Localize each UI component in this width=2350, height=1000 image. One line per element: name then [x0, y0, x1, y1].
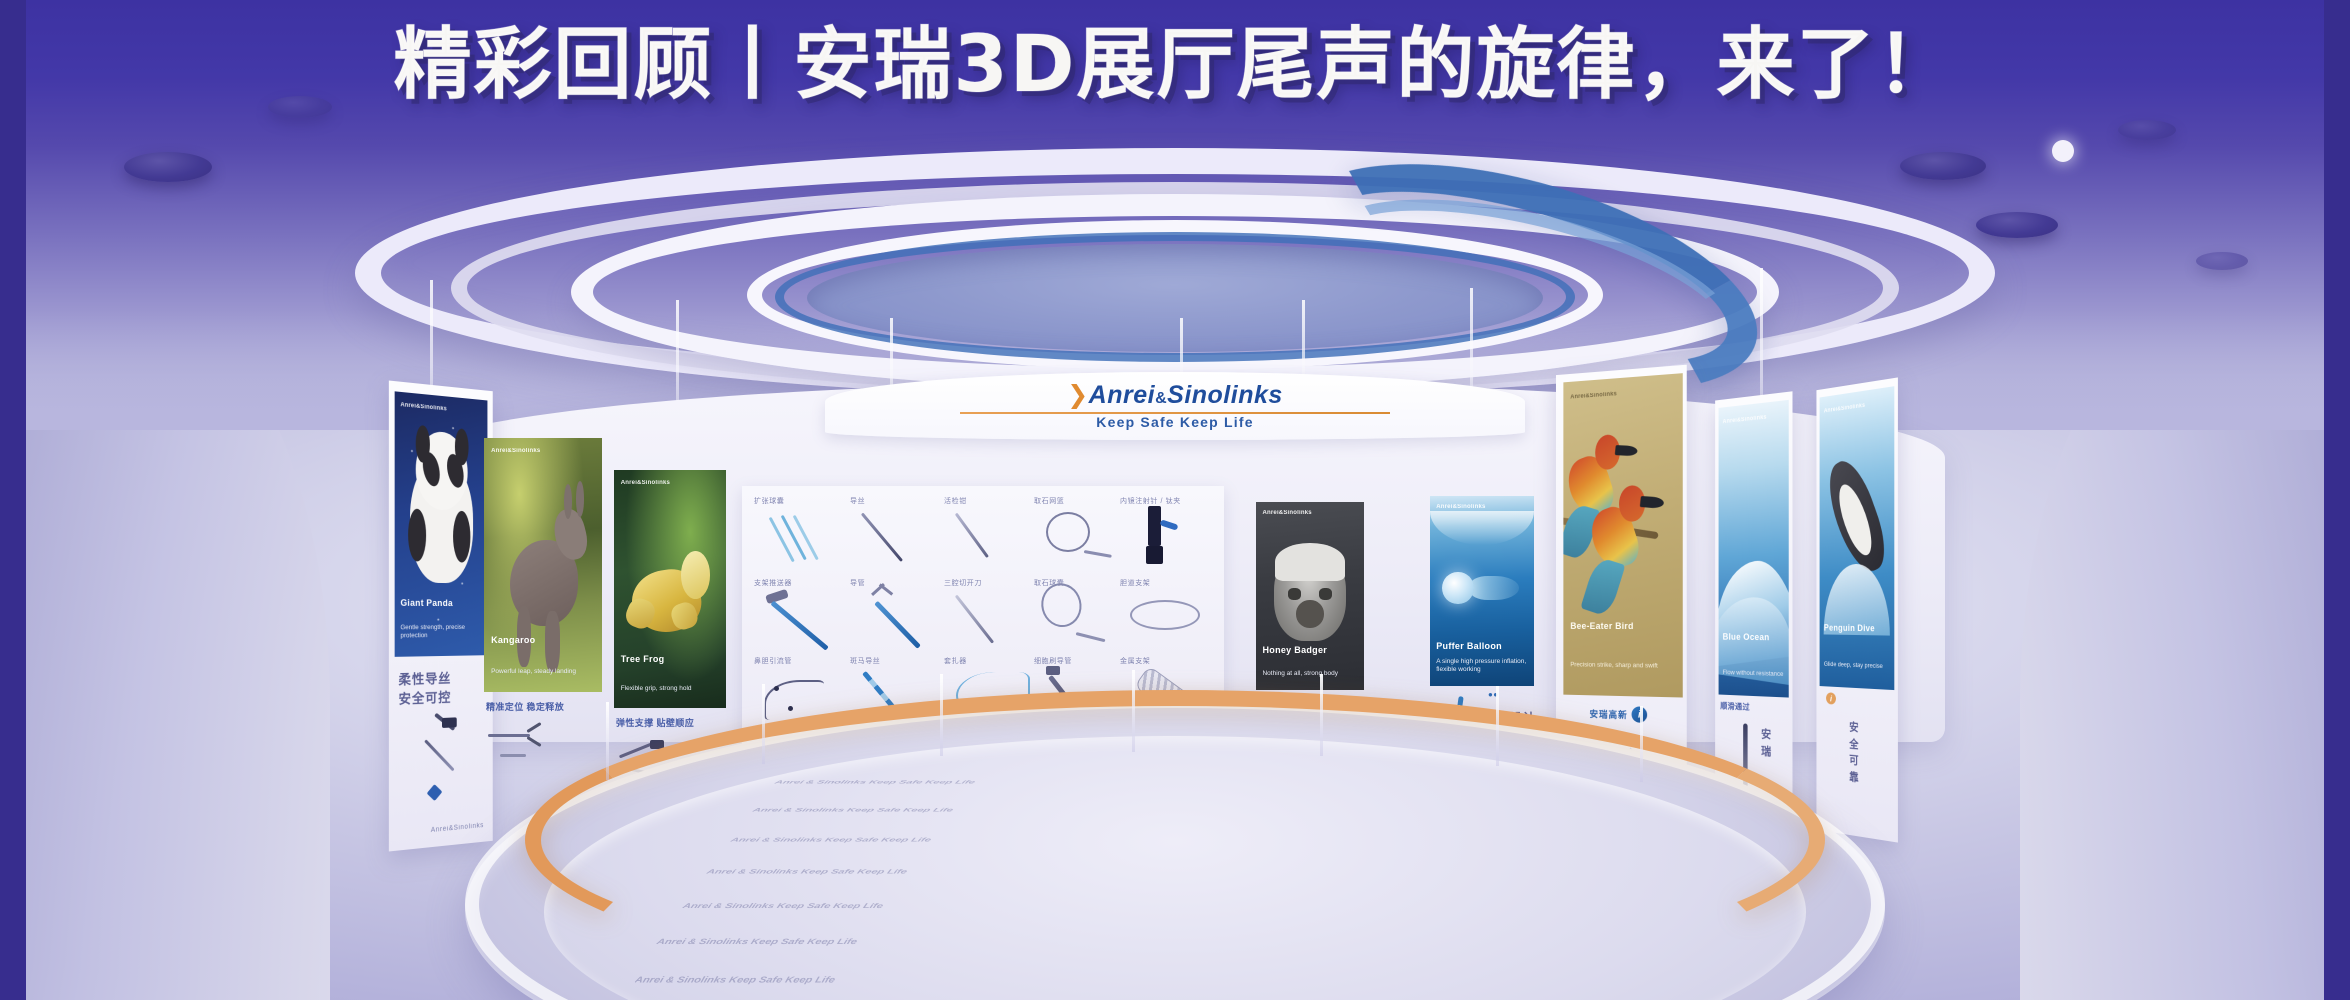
product-label: 金属支架 [1120, 656, 1150, 666]
brand-swoosh-icon: ❯ [1067, 381, 1088, 409]
poster-title: Honey Badger [1262, 645, 1357, 656]
ceiling-lamp-icon [2118, 120, 2176, 140]
poster-caption: 顺滑通过 [1720, 700, 1750, 712]
poster-title: Kangaroo [491, 635, 595, 646]
kiosk-footnote: Anrei&Sinolinks [431, 822, 484, 834]
product-label: 套扎器 [944, 656, 967, 666]
poster-title: Giant Panda [400, 598, 482, 610]
product-label: 三腔切开刀 [944, 578, 982, 588]
floor-watermark-row: Anrei & Sinolinks Keep Safe Keep Life [635, 975, 836, 984]
seal-label: 安瑞高新 [1590, 707, 1628, 721]
rail-post [762, 684, 765, 764]
bird-beak-icon [1640, 496, 1664, 508]
rail-post [1640, 706, 1643, 782]
product-graphic-clip-device [1132, 504, 1204, 566]
product-graphic-balloon-triple [764, 508, 840, 566]
badger-eye-left-icon [1288, 588, 1301, 599]
product-graphic-forceps [952, 508, 1028, 566]
brand-ampersand: & [1155, 390, 1167, 407]
product-label: 扩张球囊 [754, 496, 784, 506]
poster-subtitle: Powerful leap, steady landing [491, 668, 595, 676]
kiosk-caption-cn: 安瑞 [1761, 726, 1772, 760]
exhibition-hall-banner: ❯Anrei&Sinolinks Keep Safe Keep Life Anr… [0, 0, 2350, 1000]
poster-mount-kangaroo[interactable]: Anrei&Sinolinks Kangaroo Powerful leap, … [484, 438, 602, 770]
poster-logo: Anrei&Sinolinks [1570, 391, 1617, 400]
kangaroo-ear-icon [576, 481, 584, 517]
poster-caption-cn: 柔性导丝 安全可控 [399, 670, 452, 710]
rail-post [940, 674, 943, 756]
banner-title-area: 精彩回顾丨安瑞3D展厅尾声的旋律，来了！ [0, 26, 2350, 104]
poster-title: Blue Ocean [1723, 632, 1785, 644]
brand-name-part2: Sinolinks [1167, 381, 1283, 409]
left-border-strip [0, 0, 26, 1000]
poster-logo: Anrei&Sinolinks [1262, 510, 1311, 516]
poster-logo: Anrei&Sinolinks [1824, 403, 1865, 415]
poster-bee-eater[interactable]: Anrei&Sinolinks Bee-Eater Bird Precision… [1563, 373, 1682, 697]
product-label: 取石网篮 [1034, 496, 1064, 506]
poster-kangaroo[interactable]: Anrei&Sinolinks Kangaroo Powerful leap, … [484, 438, 602, 692]
puffer-water-surface [1430, 511, 1534, 545]
poster-title: Tree Frog [621, 654, 720, 665]
poster-frog[interactable]: Anrei&Sinolinks Tree Frog Flexible grip,… [614, 470, 726, 708]
kiosk-panel-panda[interactable]: Anrei&Sinolinks Giant Panda Gentle stren… [389, 381, 493, 852]
poster-logo: Anrei&Sinolinks [1723, 414, 1767, 425]
product-label: 斑马导丝 [850, 656, 880, 666]
poster-subtitle: Glide deep, stay precise [1824, 661, 1890, 672]
rail-post [1132, 670, 1135, 752]
seal-badge: 安瑞高新 i [1590, 705, 1648, 723]
kiosk-panel-penguin[interactable]: Anrei&Sinolinks Penguin Dive Glide deep,… [1816, 377, 1897, 842]
poster-logo: Anrei&Sinolinks [1436, 504, 1485, 510]
poster-puffer-fish[interactable]: Anrei&Sinolinks Puffer Balloon A single … [1430, 496, 1534, 686]
seal-badge-small: i [1826, 692, 1836, 704]
product-graphic-guidewire [860, 508, 936, 566]
product-label: 支架推送器 [754, 578, 792, 588]
poster-penguin[interactable]: Anrei&Sinolinks Penguin Dive Glide deep,… [1820, 386, 1895, 690]
poster-subtitle: A single high pressure inflation, flexib… [1436, 658, 1528, 675]
brand-tagline: Keep Safe Keep Life [825, 414, 1525, 430]
brand-sign: ❯Anrei&Sinolinks Keep Safe Keep Life [825, 372, 1525, 440]
poster-ocean-wave[interactable]: Anrei&Sinolinks Blue Ocean Flow without … [1719, 400, 1789, 698]
poster-panda[interactable]: Anrei&Sinolinks Giant Panda Gentle stren… [395, 391, 488, 657]
poster-title: Bee-Eater Bird [1570, 621, 1675, 632]
poster-subtitle: Flexible grip, strong hold [621, 685, 720, 693]
device-forceps-graphic [488, 720, 558, 766]
rail-post [606, 702, 609, 780]
ceiling-spotlight-icon [2052, 140, 2074, 162]
brand-name: ❯Anrei&Sinolinks [825, 380, 1525, 410]
poster-subtitle: Nothing at all, strong body [1262, 670, 1357, 678]
i-badge-icon: i [1826, 692, 1836, 704]
poster-title: Penguin Dive [1824, 623, 1890, 635]
bird-beak-icon [1615, 445, 1638, 456]
puffer-tail-shape [1470, 576, 1520, 601]
puffer-balloon-shape [1442, 572, 1473, 604]
poster-title: Puffer Balloon [1436, 641, 1528, 652]
poster-logo: Anrei&Sinolinks [400, 402, 447, 412]
panda-arm-left-icon [408, 509, 426, 562]
product-label: 鼻胆引流管 [754, 656, 792, 666]
page-title: 精彩回顾丨安瑞3D展厅尾声的旋律，来了！ [393, 26, 1956, 104]
product-graphic-sphincterotome [952, 590, 1032, 650]
brand-name-part1: Anrei [1089, 381, 1155, 409]
product-graphic-stone-balloon [1038, 586, 1118, 648]
poster-subtitle: Gentle strength, precise protection [400, 623, 482, 640]
badger-snout-shape [1296, 600, 1324, 628]
product-graphic-pusher [764, 590, 854, 650]
bird-lower [1594, 471, 1671, 626]
poster-caption: 弹性支撑 贴壁顺应 [616, 716, 694, 729]
product-label: 胆道支架 [1120, 578, 1150, 588]
product-label: 活检钳 [944, 496, 967, 506]
badger-eye-right-icon [1319, 588, 1332, 599]
poster-subtitle: Precision strike, sharp and swift [1570, 661, 1675, 671]
orange-guard-rail [525, 690, 1825, 990]
poster-honey-badger[interactable]: Anrei&Sinolinks Honey Badger Nothing at … [1256, 502, 1364, 690]
ceiling-lamp-icon [2196, 252, 2248, 270]
ceiling-lamp-icon [124, 152, 212, 182]
product-graphic-catheter [860, 586, 946, 650]
product-graphic-stent-oval [1128, 592, 1208, 646]
rail-post [1320, 674, 1323, 756]
kiosk-caption-cn: 安全可靠 [1849, 719, 1859, 786]
frog-head-shape [681, 551, 710, 599]
device-guidewire-graphic [423, 715, 475, 818]
product-label: 导丝 [850, 496, 865, 506]
panda-arm-right-icon [453, 511, 470, 563]
product-graphic-basket-loop [1040, 506, 1116, 568]
badger-cap-shape [1275, 543, 1344, 581]
poster-subtitle: Flow without resistance [1723, 669, 1785, 679]
rail-post [1496, 686, 1499, 766]
poster-caption: 精准定位 稳定释放 [486, 700, 564, 713]
right-border-strip [2324, 0, 2350, 1000]
poster-logo: Anrei&Sinolinks [491, 448, 540, 454]
poster-logo: Anrei&Sinolinks [621, 480, 670, 486]
